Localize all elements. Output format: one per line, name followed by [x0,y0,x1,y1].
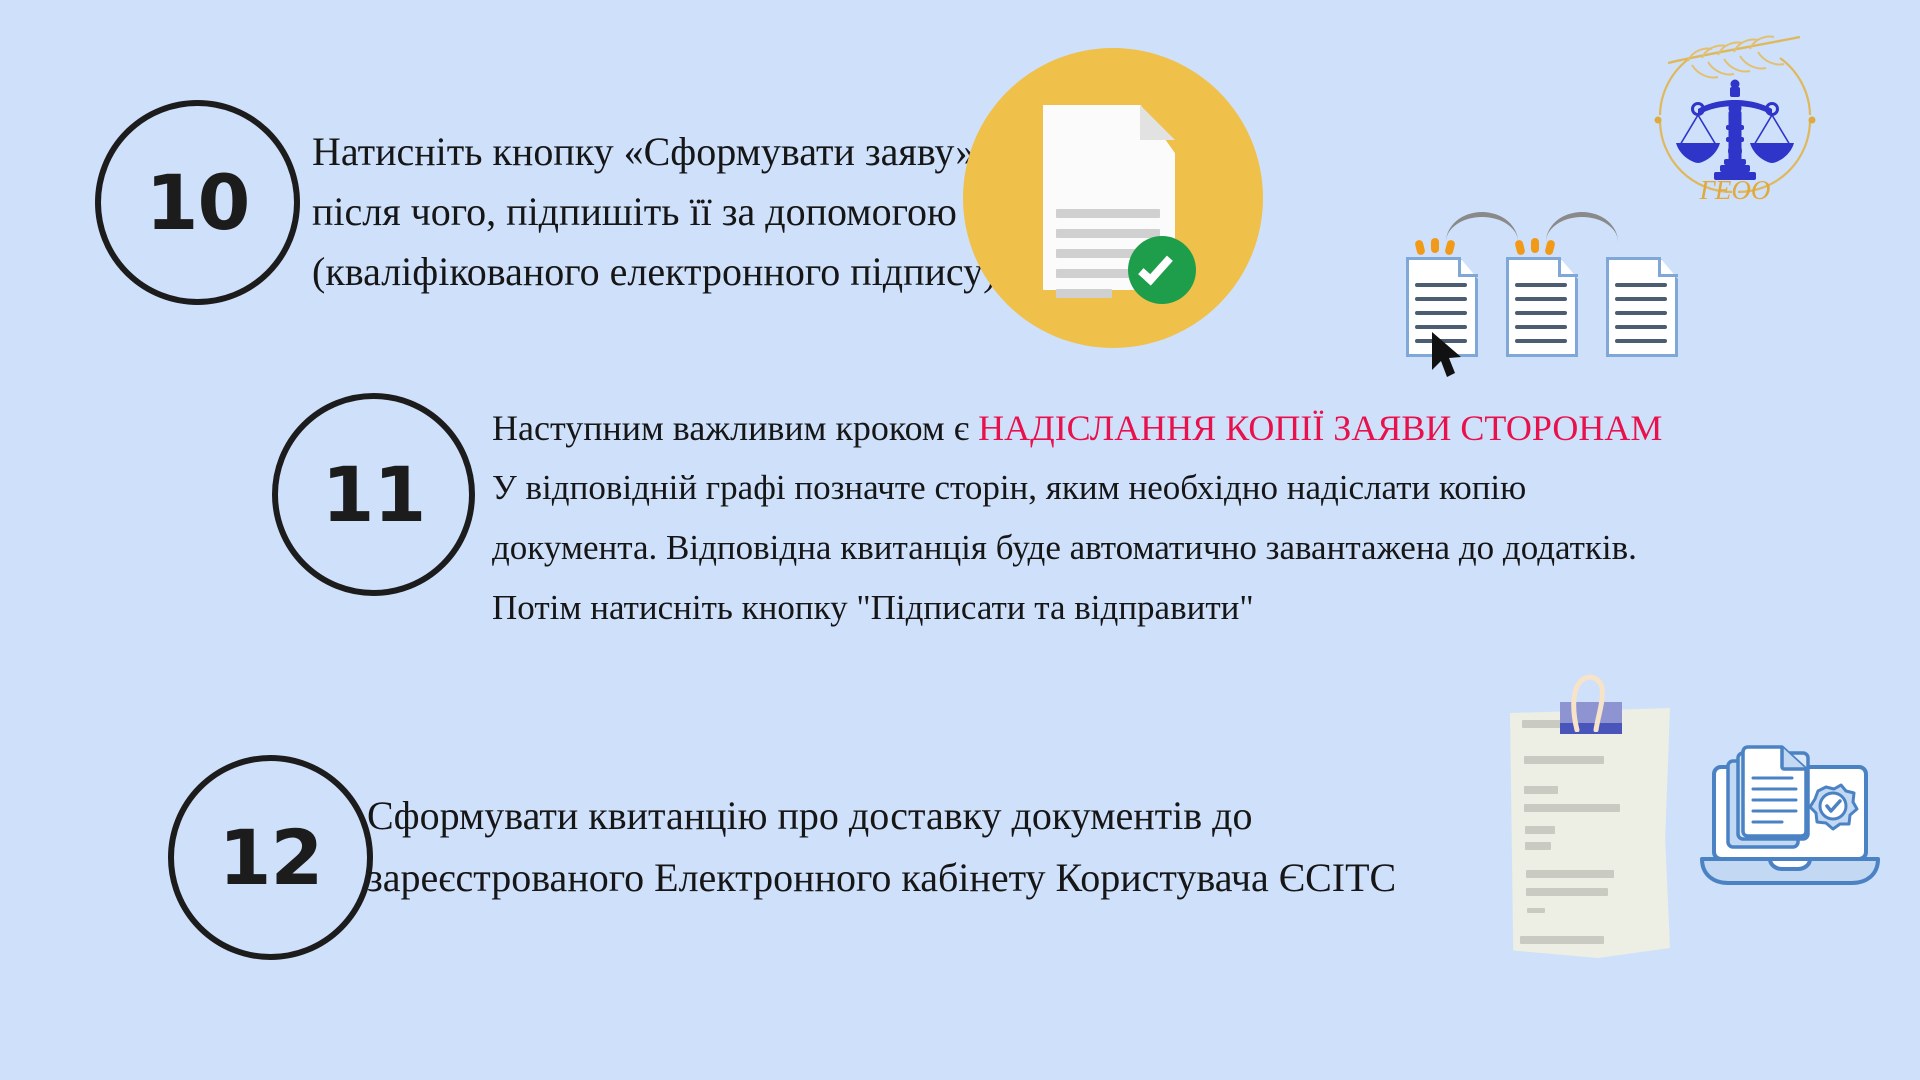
step-text-11: Наступним важливим кроком є НАДІСЛАННЯ К… [492,398,1912,638]
document-text-line [1615,339,1667,343]
step-number-badge-11: 11 [272,393,475,596]
step-11-line-3: Потім натисніть кнопку "Підписати та від… [492,578,1912,638]
document-text-line [1515,311,1567,315]
receipt-line [1526,888,1608,896]
receipt-line [1527,908,1545,913]
receipt-line [1526,870,1614,878]
receipt-line [1520,936,1604,944]
document-text-line [1515,283,1567,287]
document-text-line [1615,311,1667,315]
document-text-line [1056,209,1160,218]
step-11-headline-prefix: Наступним важливим кроком є [492,408,978,448]
step-number-badge-12: 12 [168,755,373,960]
document-folded-corner [1558,257,1578,277]
orange-dots-1 [1416,238,1464,254]
step-text-12: Сформувати квитанцію про доставку докуме… [367,785,1467,909]
check-icon [1138,250,1173,286]
certification-seal-icon [1810,785,1857,829]
laptop-with-certified-document-illustration [1700,745,1895,895]
document-folded-corner [1140,105,1175,140]
green-check-badge [1128,236,1196,304]
step-12-line-2: зареєстрованого Електронного кабінету Ко… [367,847,1467,909]
step-number-12: 12 [219,820,323,896]
document-folded-corner [1658,257,1678,277]
step-number-10: 10 [146,165,250,241]
three-documents-with-cursor-illustration [1398,212,1698,387]
infographic-canvas: ГЕОО 10 Натисніть кнопку «Сформувати зая… [0,0,1920,1080]
logo-caption: ГЕОО [1699,175,1771,205]
document-text-line [1515,339,1567,343]
document-text-line [1515,325,1567,329]
step-11-line-1: У відповідній графі позначте сторін, яки… [492,458,1912,518]
step-number-11: 11 [322,457,426,533]
document-text-line [1415,283,1467,287]
document-text-line [1415,297,1467,301]
binder-clip-wire [1568,674,1610,732]
document-with-green-check-illustration [963,48,1263,348]
receipt-with-binder-clip-illustration [1510,670,1700,960]
receipt-line [1516,956,1572,968]
document-text-line [1415,325,1467,329]
logo-svg: ГЕОО [1640,25,1830,205]
document-text-line [1056,289,1112,298]
document-text-line [1615,283,1667,287]
document-text-line [1615,297,1667,301]
document-icon-2 [1506,257,1578,357]
step-11-headline: Наступним важливим кроком є НАДІСЛАННЯ К… [492,398,1912,458]
document-text-line [1415,311,1467,315]
step-11-line-2: документа. Відповідна квитанція буде авт… [492,518,1912,578]
receipt-line [1525,826,1555,834]
step-11-headline-accent: НАДІСЛАННЯ КОПІЇ ЗАЯВИ СТОРОНАМ [978,408,1662,448]
step-12-line-1: Сформувати квитанцію про доставку докуме… [367,785,1467,847]
scales-of-justice-logo: ГЕОО [1640,25,1830,205]
document-folded-corner [1458,257,1478,277]
document-icon-3 [1606,257,1678,357]
receipt-line [1524,786,1558,794]
step-number-badge-10: 10 [95,100,300,305]
document-text-line [1515,297,1567,301]
receipt-line [1525,842,1551,850]
receipt-line [1524,804,1620,812]
document-text-line [1615,325,1667,329]
receipt-line [1524,756,1604,764]
document-text-line [1056,229,1160,238]
orange-dots-2 [1516,238,1564,254]
receipt-paper [1510,708,1670,958]
